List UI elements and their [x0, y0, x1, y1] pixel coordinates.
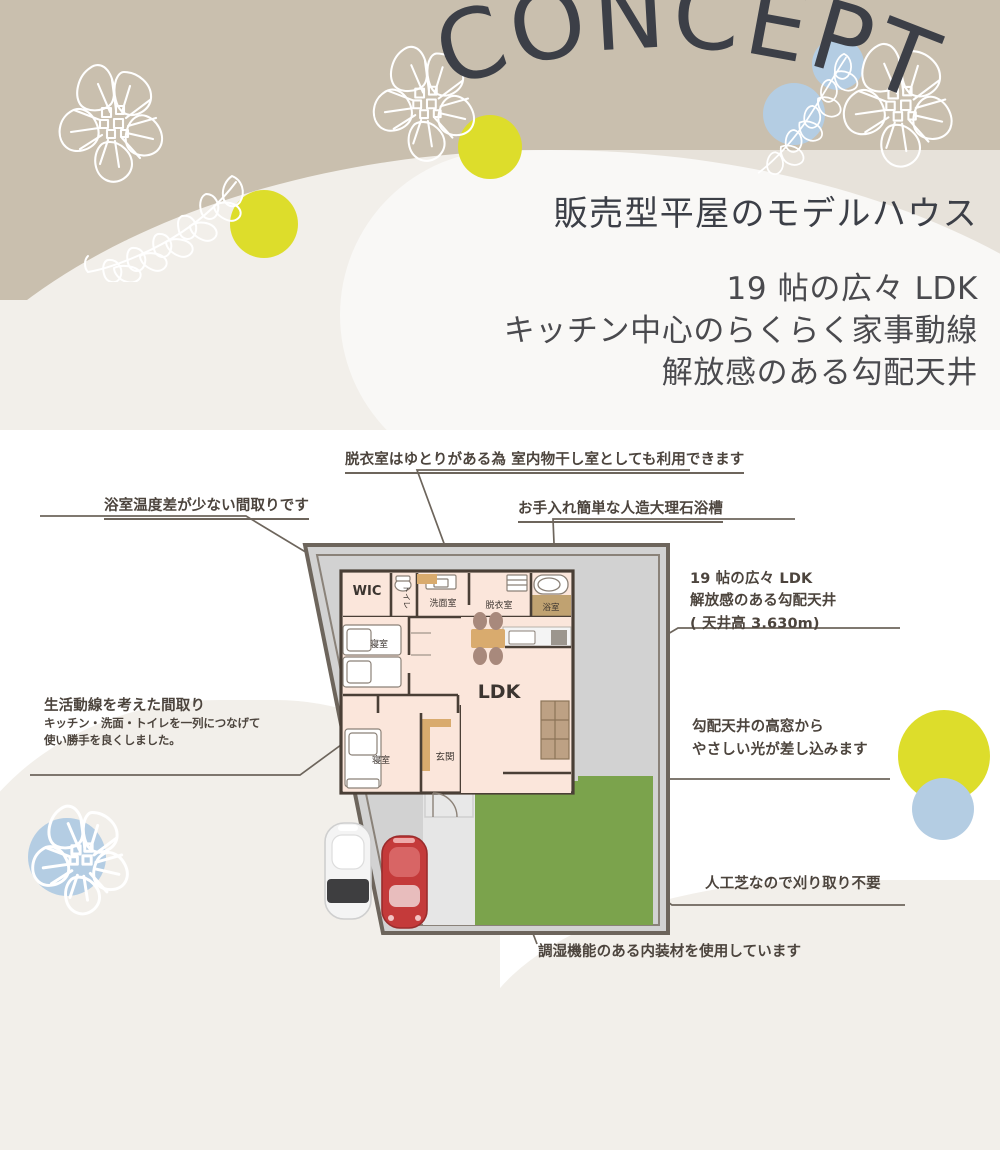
room-label-wic: WIC [353, 584, 382, 599]
washroom-counter-wood [417, 574, 437, 584]
red-car [382, 836, 427, 928]
room-label-ldk: LDK [478, 681, 522, 703]
room-label-washroom: 洗面室 [429, 597, 456, 609]
callout-ldk-ceiling: 19 帖の広々 LDK 解放感のある勾配天井 ( 天井高 3.630m) [690, 568, 836, 635]
callout-life-flow: 生活動線を考えた間取り キッチン・洗面・トイレを一列につなげて 使い勝手を良くし… [44, 694, 260, 748]
poster-canvas: CONCEPT 販売型平屋のモデルハウス 19 帖の広々 LDK キッチン中心の… [0, 0, 1000, 998]
callout-dressing-room: 脱衣室はゆとりがある為 室内物干し室としても利用できます [345, 448, 744, 474]
bathtub-fixture [534, 575, 568, 594]
tagline-line-3: 解放感のある勾配天井 [504, 352, 978, 394]
callout-rule [104, 518, 309, 520]
callout-marble-tub: お手入れ簡単な人造大理石浴槽 [518, 497, 723, 523]
page-tagline: 19 帖の広々 LDK キッチン中心のらくらく家事動線 解放感のある勾配天井 [504, 268, 978, 394]
flower-icon-bottomleft [22, 792, 142, 917]
room-label-entrance: 玄関 [435, 751, 454, 763]
entrance-step-wood [421, 719, 451, 727]
callout-high-window-line-2: やさしい光が差し込みます [692, 739, 868, 762]
leaf-branch-icon-topleft [82, 172, 267, 282]
page-subtitle: 販売型平屋のモデルハウス [554, 186, 978, 235]
blue-circle-right [912, 778, 974, 840]
ldk-cabinet [541, 701, 569, 759]
tagline-line-2: キッチン中心のらくらく家事動線 [504, 310, 978, 352]
tagline-line-1: 19 帖の広々 LDK [504, 268, 978, 310]
callout-artificial-turf: 人工芝なので刈り取り不要 [705, 872, 881, 893]
page-title: CONCEPT [430, 20, 950, 170]
callout-high-window-line-1: 勾配天井の高窓から [692, 716, 868, 739]
lawn-upper [578, 776, 653, 798]
callout-dressing-room-text: 脱衣室はゆとりがある為 室内物干し室としても利用できます [345, 448, 744, 469]
room-label-bath: 浴室 [542, 602, 560, 613]
callout-high-window: 勾配天井の高窓から やさしい光が差し込みます [692, 716, 868, 762]
kitchen-counter [503, 627, 571, 647]
lawn-main [473, 795, 653, 925]
callout-marble-tub-text: お手入れ簡単な人造大理石浴槽 [518, 497, 723, 518]
room-label-bedroom-upper: 寝室 [370, 638, 388, 650]
white-car [325, 823, 371, 919]
room-label-bedroom-lower: 寝室 [372, 754, 390, 766]
callout-artificial-turf-text: 人工芝なので刈り取り不要 [705, 872, 881, 893]
floorplan: WIC トイレ 洗面室 脱衣室 浴室 寝室 寝室 玄関 LDK [283, 533, 683, 948]
callout-rule [345, 472, 744, 474]
callout-rule [518, 521, 723, 523]
dressing-shelf [507, 575, 527, 591]
callout-life-flow-title: 生活動線を考えた間取り [44, 694, 260, 715]
callout-life-flow-body-1: キッチン・洗面・トイレを一列につなげて [44, 715, 260, 732]
flower-icon-topleft [48, 50, 178, 185]
room-label-dressing: 脱衣室 [485, 599, 512, 611]
callout-bathroom-temp-text: 浴室温度差が少ない間取りです [104, 494, 309, 515]
callout-bathroom-temp: 浴室温度差が少ない間取りです [104, 494, 309, 520]
callout-life-flow-body-2: 使い勝手を良くしました。 [44, 732, 260, 749]
callout-ldk-line-1: 19 帖の広々 LDK [690, 568, 836, 590]
callout-ldk-line-3: ( 天井高 3.630m) [690, 613, 836, 635]
entrance-shoe-cabinet [421, 723, 430, 771]
room-label-toilet: トイレ [402, 585, 411, 609]
callout-ldk-line-2: 解放感のある勾配天井 [690, 590, 836, 612]
